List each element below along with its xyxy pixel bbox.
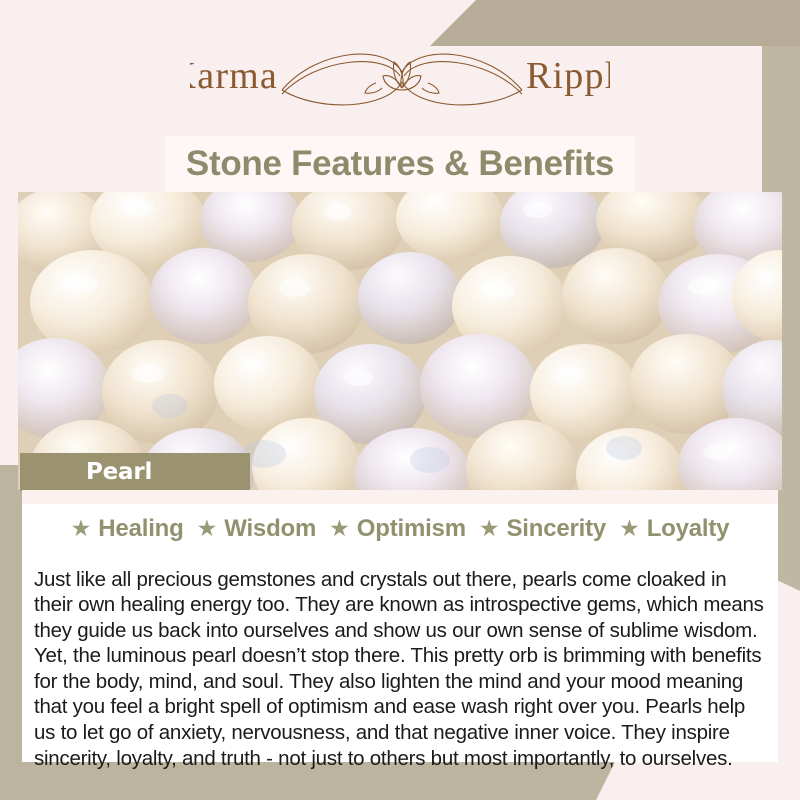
keyword-item-optimism: ★ Optimism xyxy=(329,515,466,543)
star-icon: ★ xyxy=(197,517,218,540)
description-paragraph: Just like all precious gemstones and cry… xyxy=(34,567,770,772)
star-icon: ★ xyxy=(619,517,640,540)
keyword-label: Healing xyxy=(98,515,183,543)
keyword-list: ★ Healing ★ Wisdom ★ Optimism ★ Sincerit… xyxy=(22,515,778,543)
section-heading-banner: Stone Features & Benefits xyxy=(165,136,635,192)
pearl-photo-illustration xyxy=(18,192,782,490)
keyword-item-loyalty: ★ Loyalty xyxy=(619,515,729,543)
stone-name-label: Pearl xyxy=(20,453,250,491)
keyword-item-wisdom: ★ Wisdom xyxy=(197,515,317,543)
keyword-label: Sincerity xyxy=(506,515,606,543)
brand-logo: Karma Ripple xyxy=(0,38,800,116)
star-icon: ★ xyxy=(479,517,500,540)
keyword-item-healing: ★ Healing xyxy=(71,515,184,543)
card-top-tint xyxy=(22,490,778,504)
keyword-item-sincerity: ★ Sincerity xyxy=(479,515,606,543)
keyword-label: Loyalty xyxy=(647,515,730,543)
star-icon: ★ xyxy=(329,517,350,540)
stone-name-text: Pearl xyxy=(20,459,152,485)
logo-text-left: Karma xyxy=(190,55,278,97)
logo-svg: Karma Ripple xyxy=(190,38,610,116)
star-icon: ★ xyxy=(71,517,92,540)
logo-text-right: Ripple xyxy=(526,55,610,97)
pearl-photo xyxy=(18,192,782,490)
page-title: Stone Features & Benefits xyxy=(186,144,614,184)
infographic-page: Karma Ripple Stone Features & Benefits xyxy=(0,0,800,800)
description-card: ★ Healing ★ Wisdom ★ Optimism ★ Sincerit… xyxy=(22,490,778,762)
keyword-label: Wisdom xyxy=(224,515,316,543)
keyword-label: Optimism xyxy=(357,515,466,543)
